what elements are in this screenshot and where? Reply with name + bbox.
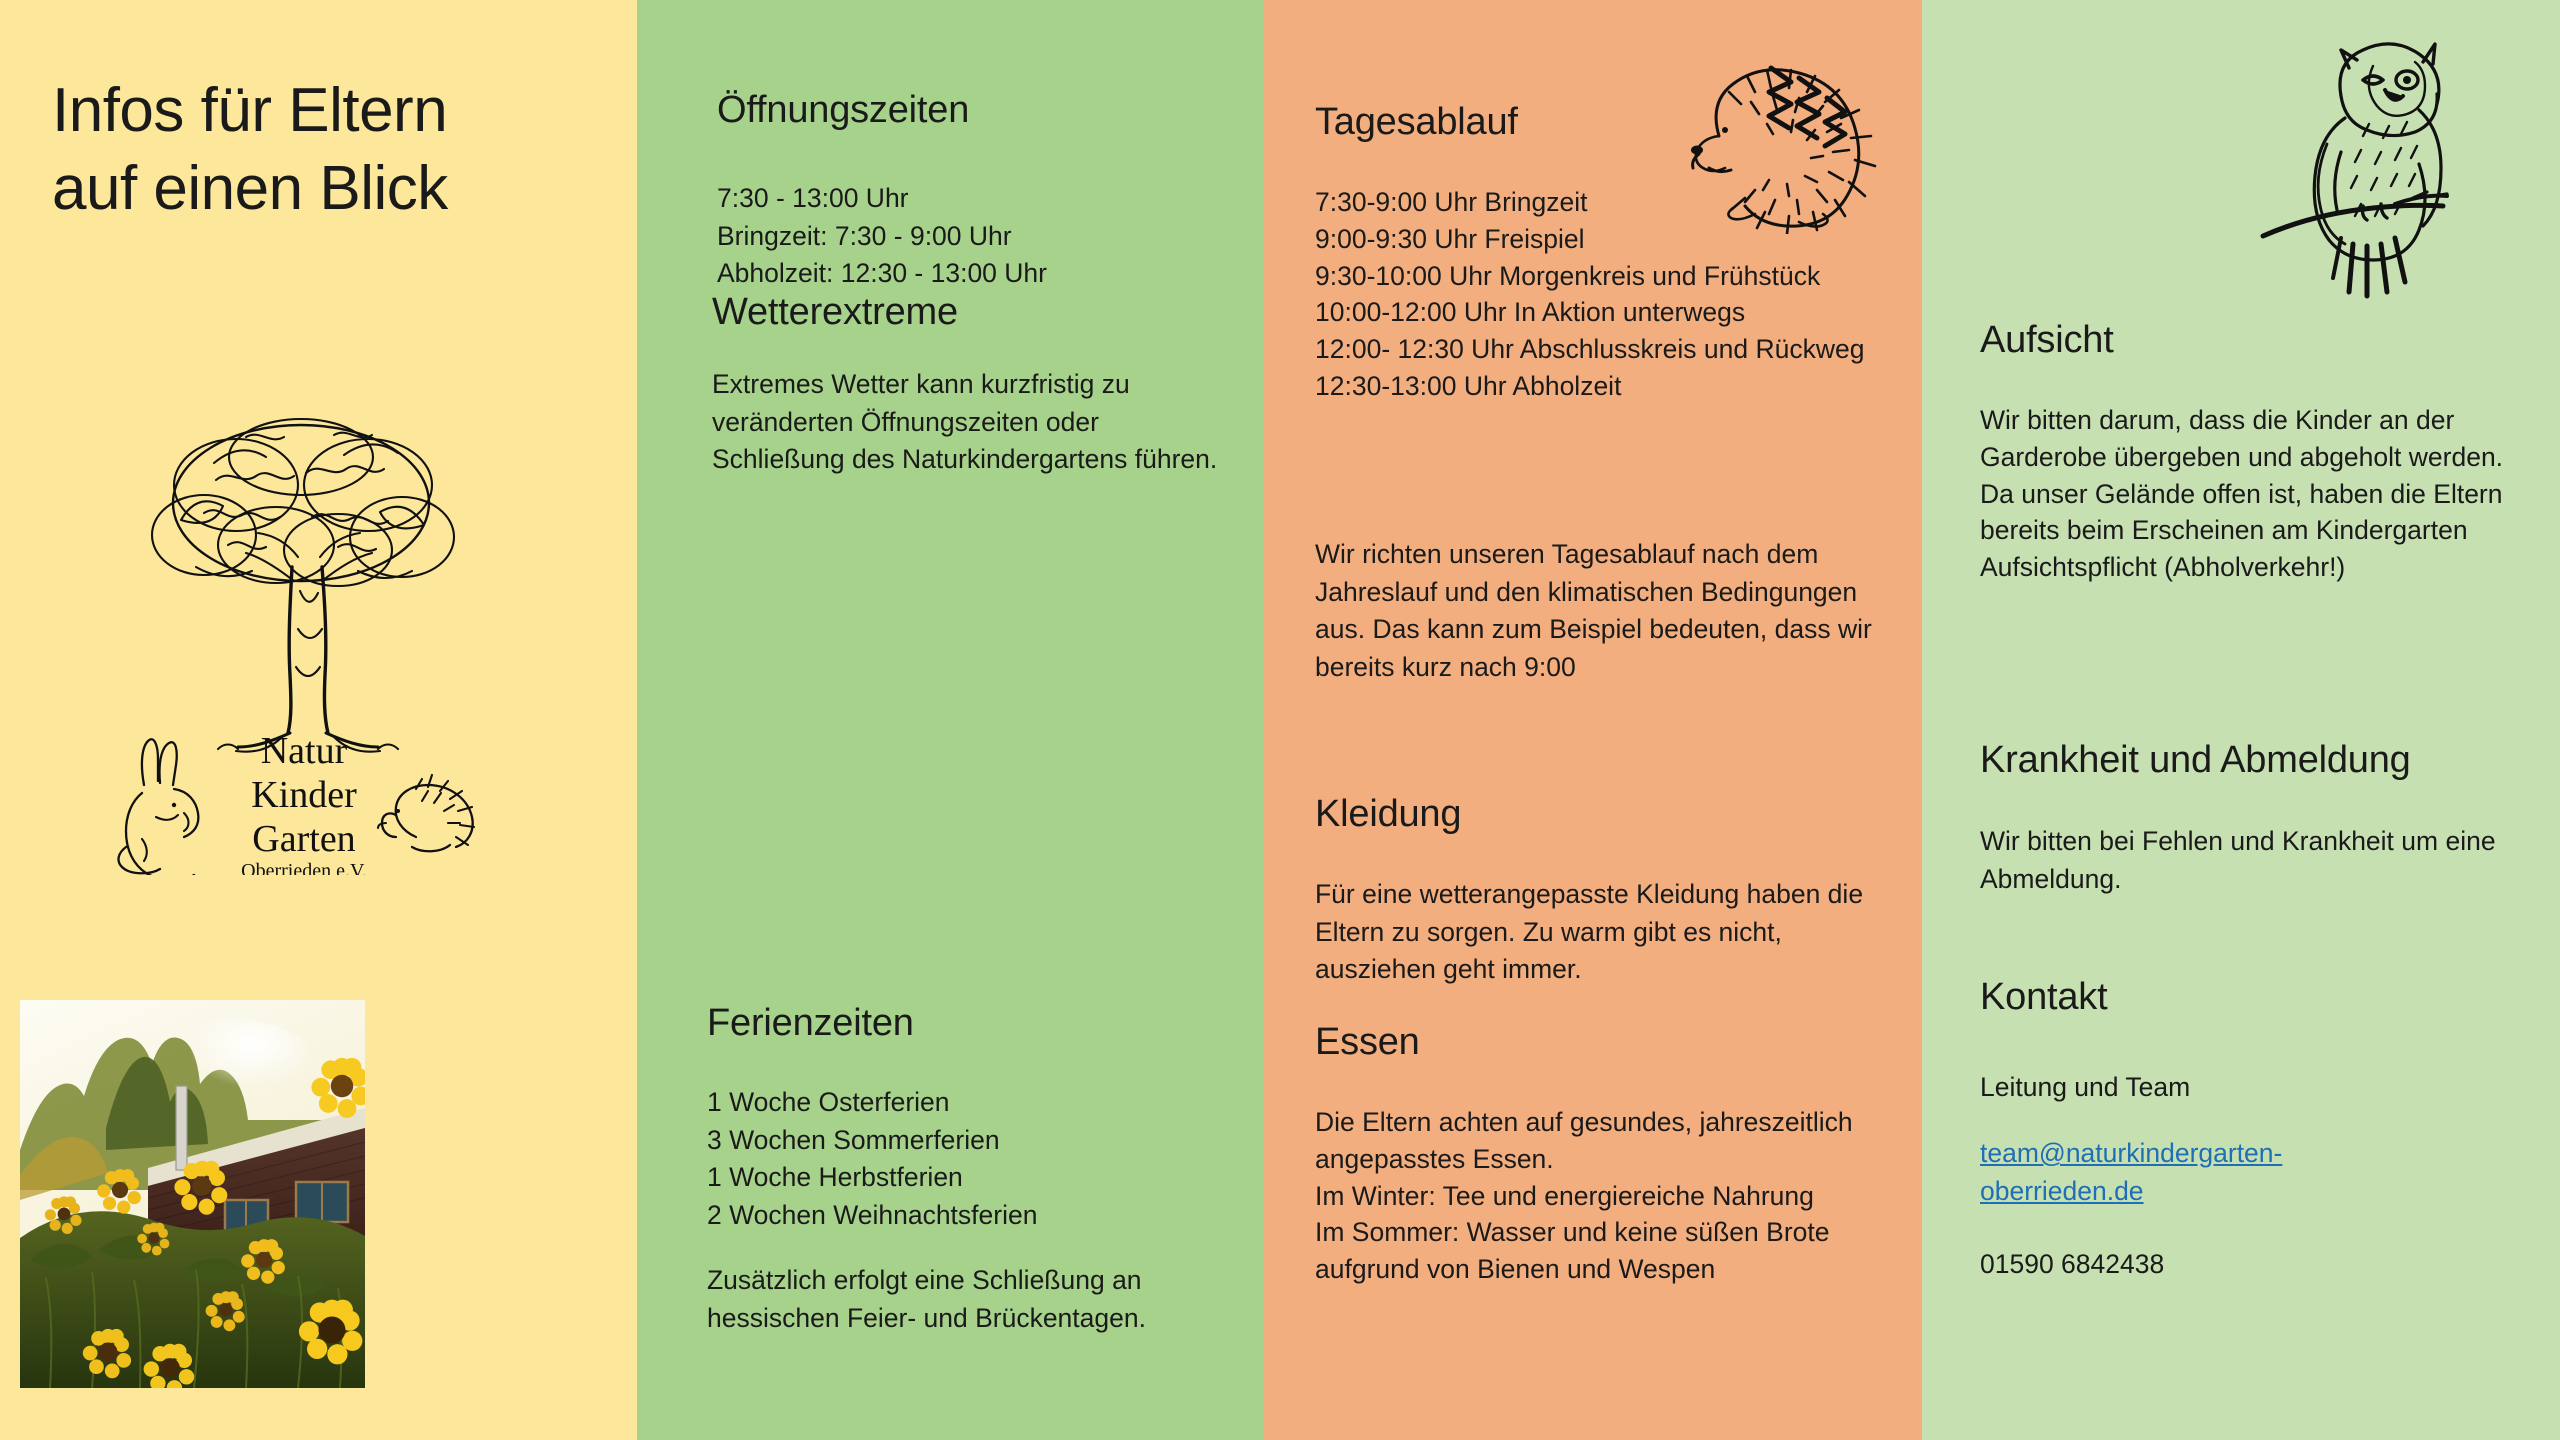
- heading-ferienzeiten: Ferienzeiten: [707, 1001, 914, 1047]
- schedule-note: Wir richten unseren Tagesablauf nach dem…: [1315, 536, 1895, 687]
- schedule-item: 12:30-13:00 Uhr Abholzeit: [1315, 368, 1875, 405]
- heading-essen: Essen: [1315, 1020, 1420, 1066]
- photo-image: [20, 1000, 365, 1388]
- contact-phone: 01590 6842438: [1980, 1246, 2520, 1284]
- heading-oeffnungszeiten: Öffnungszeiten: [717, 88, 969, 134]
- column-title: Infos für Eltern auf einen Blick: [0, 0, 637, 1440]
- contact-email-link[interactable]: team@naturkindergarten-oberrieden.de: [1980, 1138, 2282, 1206]
- page-title-line-1: Infos für Eltern: [52, 72, 612, 150]
- holiday-item: 2 Wochen Weihnachtsferien: [707, 1197, 1237, 1235]
- clothing-text: Für eine wetterangepasste Kleidung haben…: [1315, 876, 1875, 989]
- schedule-item: 12:00- 12:30 Uhr Abschlusskreis und Rück…: [1315, 331, 1875, 368]
- column-opening-hours: Öffnungszeiten 7:30 - 13:00 Uhr Bringzei…: [637, 0, 1263, 1440]
- supervision-paragraph: Wir bitten darum, dass die Kinder an der…: [1980, 402, 2540, 476]
- schedule-item: 10:00-12:00 Uhr In Aktion unterwegs: [1315, 294, 1875, 331]
- food-list: Die Eltern achten auf gesundes, jahresze…: [1315, 1104, 1915, 1288]
- illness-text: Wir bitten bei Fehlen und Krankheit um e…: [1980, 823, 2540, 898]
- supervision-text: Wir bitten darum, dass die Kinder an der…: [1980, 402, 2540, 586]
- opening-hours-line: 7:30 - 13:00 Uhr: [717, 180, 1237, 218]
- contact-email-wrapper[interactable]: team@naturkindergarten-oberrieden.de: [1980, 1135, 2400, 1210]
- logo-word-natur: Natur: [261, 730, 348, 772]
- schedule-item: 9:30-10:00 Uhr Morgenkreis und Frühstück: [1315, 258, 1875, 295]
- logo-word-kinder: Kinder: [251, 774, 357, 816]
- opening-hours-line: Bringzeit: 7:30 - 9:00 Uhr: [717, 218, 1237, 256]
- heading-krankheit-abmeldung: Krankheit und Abmeldung: [1980, 738, 2411, 784]
- opening-hours-list: 7:30 - 13:00 Uhr Bringzeit: 7:30 - 9:00 …: [717, 180, 1237, 293]
- hedgehog-icon: [1663, 44, 1903, 234]
- logo-word-garten: Garten: [252, 818, 355, 860]
- heading-tagesablauf: Tagesablauf: [1315, 100, 1518, 146]
- page-title: Infos für Eltern auf einen Blick: [52, 72, 612, 228]
- contact-role: Leitung und Team: [1980, 1069, 2520, 1107]
- brochure-page: Infos für Eltern auf einen Blick: [0, 0, 2560, 1440]
- tree-logo-icon: Natur Kinder Garten Oberrieden e.V.: [86, 385, 526, 875]
- supervision-paragraph: Da unser Gelände offen ist, haben die El…: [1980, 476, 2540, 586]
- page-title-line-2: auf einen Blick: [52, 150, 612, 228]
- heading-kontakt: Kontakt: [1980, 975, 2107, 1021]
- heading-wetterextreme: Wetterextreme: [712, 290, 958, 336]
- logo: Natur Kinder Garten Oberrieden e.V.: [86, 385, 526, 875]
- weather-text: Extremes Wetter kann kurzfristig zu verä…: [712, 366, 1232, 479]
- holiday-item: 3 Wochen Sommerferien: [707, 1122, 1237, 1160]
- sunflower-cabin-photo: [20, 1000, 365, 1388]
- opening-hours-line: Abholzeit: 12:30 - 13:00 Uhr: [717, 255, 1237, 293]
- heading-aufsicht: Aufsicht: [1980, 318, 2114, 364]
- food-item: Im Sommer: Wasser und keine süßen Brote …: [1315, 1214, 1915, 1288]
- holiday-item: 1 Woche Herbstferien: [707, 1159, 1237, 1197]
- hedgehog-illustration: [1663, 44, 1903, 234]
- owl-icon: [2245, 22, 2525, 302]
- owl-illustration: [2245, 22, 2525, 302]
- logo-word-oberrieden: Oberrieden e.V.: [241, 860, 367, 875]
- holidays-note: Zusätzlich erfolgt eine Schließung an he…: [707, 1262, 1237, 1337]
- food-item: Im Winter: Tee und energiereiche Nahrung: [1315, 1178, 1915, 1215]
- holiday-item: 1 Woche Osterferien: [707, 1084, 1237, 1122]
- heading-kleidung: Kleidung: [1315, 792, 1461, 838]
- food-item: Die Eltern achten auf gesundes, jahresze…: [1315, 1104, 1915, 1178]
- holidays-list: 1 Woche Osterferien 3 Wochen Sommerferie…: [707, 1084, 1237, 1235]
